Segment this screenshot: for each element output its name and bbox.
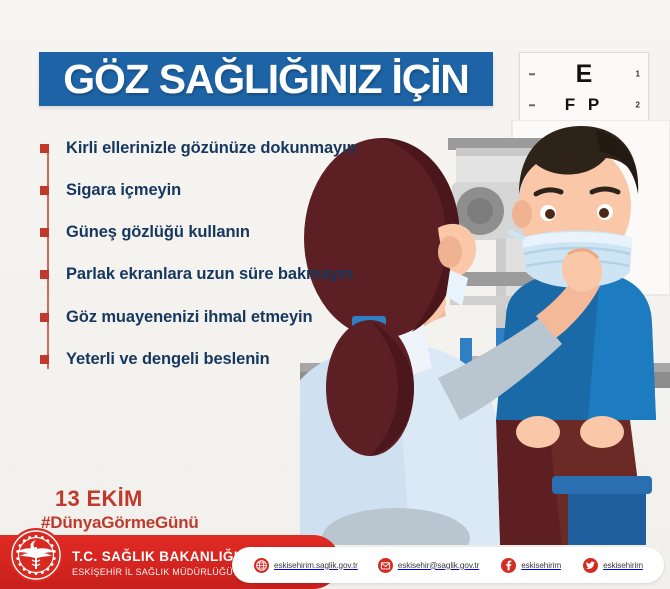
list-item: Göz muayenenizi ihmal etmeyin: [40, 307, 360, 327]
tip-text: Parlak ekranlara uzun süre bakmayın: [66, 264, 353, 284]
eye-chart-row-number: 2: [636, 101, 640, 110]
list-item: Güneş gözlüğü kullanın: [40, 222, 360, 242]
bullet-square-icon: [40, 186, 49, 195]
ministry-emblem-icon: [8, 527, 64, 583]
social-link-twitter[interactable]: eskisehirim: [583, 558, 643, 573]
social-link-website[interactable]: eskisehirim.saglik.gov.tr: [254, 558, 358, 573]
tip-text: Güneş gözlüğü kullanın: [66, 222, 250, 242]
list-item: Sigara içmeyin: [40, 180, 360, 200]
mail-icon: [378, 558, 393, 573]
list-item: Parlak ekranlara uzun süre bakmayın: [40, 264, 360, 284]
list-item: Yeterli ve dengeli beslenin: [40, 349, 360, 369]
tip-text: Göz muayenenizi ihmal etmeyin: [66, 307, 313, 327]
tip-text: Yeterli ve dengeli beslenin: [66, 349, 270, 369]
social-link-email[interactable]: eskisehir@saglik.gov.tr: [378, 558, 479, 573]
eye-chart-row: F P 2: [520, 92, 648, 118]
ministry-title-block: T.C. SAĞLIK BAKANLIĞI ESKİŞEHİR İL SAĞLI…: [72, 550, 238, 577]
eye-health-infographic-poster: E 1 F P 2 T Z O 3 L P E D 4: [0, 0, 670, 589]
page-title: GÖZ SAĞLIĞINIZ İÇİN: [63, 59, 468, 100]
eye-chart-row: E 1: [520, 61, 648, 87]
website-label: eskisehirim.saglik.gov.tr: [274, 561, 358, 570]
observance-date: 13 EKİM: [55, 487, 199, 510]
globe-icon: [254, 558, 269, 573]
tip-text: Sigara içmeyin: [66, 180, 181, 200]
observance-date-block: 13 EKİM #DünyaGörmeGünü: [55, 487, 199, 533]
bullet-square-icon: [40, 270, 49, 279]
eye-chart-letters: F P: [520, 95, 648, 115]
bullet-square-icon: [40, 313, 49, 322]
bullet-square-icon: [40, 228, 49, 237]
social-link-facebook[interactable]: eskisehirim: [501, 558, 561, 573]
eye-chart-row-number: 1: [636, 70, 640, 79]
observance-hashtag: #DünyaGörmeGünü: [41, 513, 199, 533]
ministry-department: ESKİŞEHİR İL SAĞLIK MÜDÜRLÜĞÜ: [72, 567, 238, 577]
eye-chart-letters: E: [520, 60, 648, 89]
poster-title-banner: GÖZ SAĞLIĞINIZ İÇİN: [39, 52, 493, 106]
list-item: Kirli ellerinizle gözünüze dokunmayın: [40, 138, 360, 158]
facebook-label: eskisehirim: [521, 561, 561, 570]
bullet-square-icon: [40, 355, 49, 364]
facebook-icon: [501, 558, 516, 573]
bullet-square-icon: [40, 144, 49, 153]
eye-health-tips-list: Kirli ellerinizle gözünüze dokunmayın Si…: [40, 138, 360, 391]
footer-bar: T.C. SAĞLIK BAKANLIĞI ESKİŞEHİR İL SAĞLI…: [0, 535, 670, 589]
social-links: eskisehirim.saglik.gov.tr eskisehir@sagl…: [232, 547, 664, 583]
twitter-label: eskisehirim: [603, 561, 643, 570]
twitter-icon: [583, 558, 598, 573]
tip-text: Kirli ellerinizle gözünüze dokunmayın: [66, 138, 357, 158]
ministry-name: T.C. SAĞLIK BAKANLIĞI: [72, 550, 238, 565]
email-label: eskisehir@saglik.gov.tr: [398, 561, 479, 570]
